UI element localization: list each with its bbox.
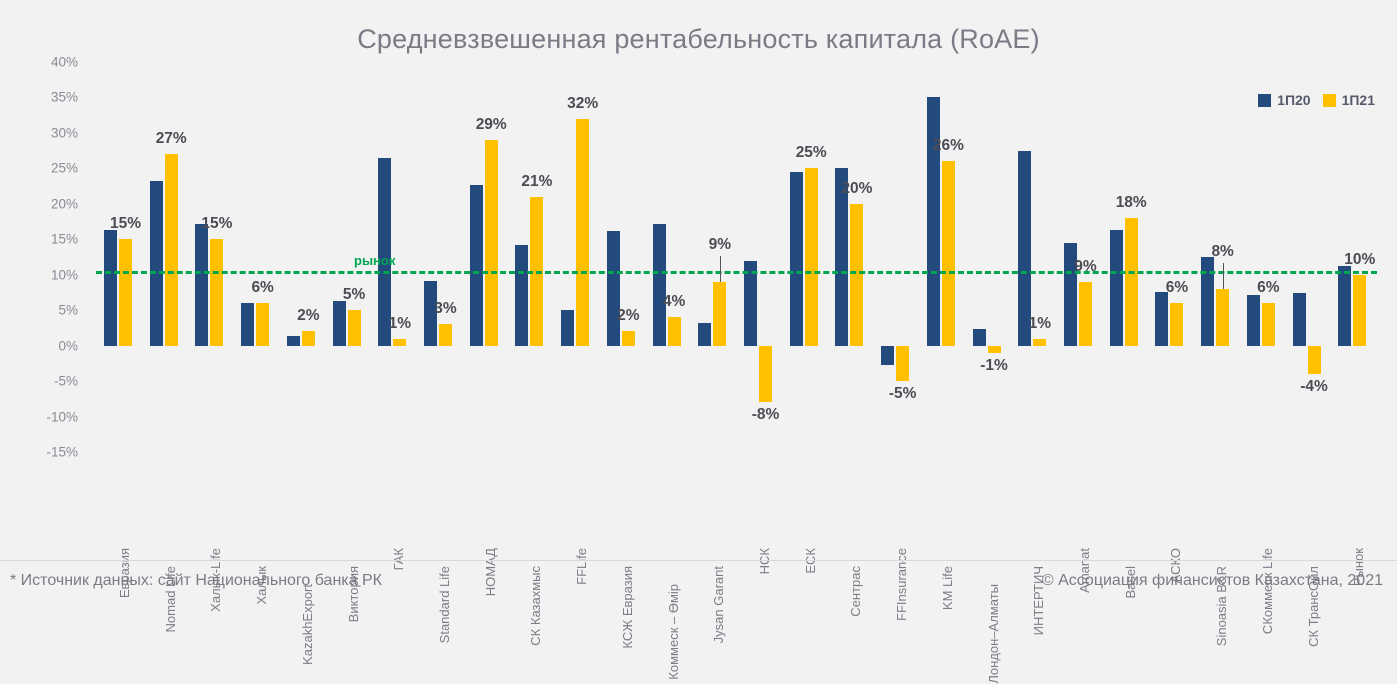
- y-axis-tick: -10%: [46, 409, 78, 424]
- bar-1П21[interactable]: [850, 204, 863, 346]
- bar-group: [286, 62, 332, 452]
- y-axis-tick: 20%: [51, 196, 78, 211]
- x-axis-label: Коммеск – Өмiр: [666, 584, 681, 680]
- bar-1П20[interactable]: [698, 323, 711, 346]
- bar-value-label: 15%: [201, 215, 232, 233]
- footer-copyright: © Ассоциация финансистов Казахстана, 202…: [1042, 572, 1383, 590]
- bar-value-label: 9%: [709, 236, 731, 254]
- bar-value-label: 5%: [343, 286, 365, 304]
- bar-group: [834, 62, 880, 452]
- bar-1П20[interactable]: [150, 181, 163, 346]
- y-axis-tick: -15%: [46, 445, 78, 460]
- footer-source: * Источник данных: сайт Национального ба…: [10, 572, 382, 590]
- market-average-label: рынок: [354, 253, 395, 268]
- bar-1П21[interactable]: [1353, 275, 1366, 346]
- bar-1П20[interactable]: [607, 231, 620, 346]
- bar-1П21[interactable]: [302, 331, 315, 345]
- bar-value-label: 20%: [841, 180, 872, 198]
- bar-1П21[interactable]: [119, 239, 132, 345]
- bar-value-label: 1%: [1029, 315, 1051, 333]
- x-axis-label: Standard Life: [437, 566, 452, 643]
- bar-group: [743, 62, 789, 452]
- y-axis-tick: 10%: [51, 267, 78, 282]
- bar-group: [240, 62, 286, 452]
- bar-1П20[interactable]: [287, 336, 300, 346]
- bar-1П20[interactable]: [515, 245, 528, 346]
- x-axis-labels: ЕвразияNomad LifeХалык-LifeХалыкKazakhEx…: [96, 456, 1376, 566]
- chart-root: Средневзвешенная рентабельность капитала…: [0, 0, 1397, 613]
- bar-1П20[interactable]: [790, 172, 803, 346]
- bar-group: [789, 62, 835, 452]
- bar-1П21[interactable]: [1079, 282, 1092, 346]
- y-axis: 40%35%30%25%20%15%10%5%0%-5%-10%-15%: [0, 62, 88, 452]
- bar-1П21[interactable]: [759, 346, 772, 403]
- bar-1П21[interactable]: [485, 140, 498, 346]
- bar-value-label: -5%: [889, 385, 917, 403]
- bar-value-label: 9%: [1074, 258, 1096, 276]
- label-leader-line: [720, 256, 721, 282]
- bar-value-label: -8%: [752, 406, 780, 424]
- bar-1П21[interactable]: [668, 317, 681, 345]
- bar-1П21[interactable]: [1125, 218, 1138, 346]
- x-axis-label: FFLife: [574, 548, 589, 585]
- bar-1П21[interactable]: [1170, 303, 1183, 346]
- y-axis-tick: 0%: [58, 338, 78, 353]
- y-axis-tick: 15%: [51, 232, 78, 247]
- bar-value-label: 27%: [156, 130, 187, 148]
- bar-value-label: 25%: [796, 144, 827, 162]
- bar-1П21[interactable]: [896, 346, 909, 381]
- x-axis-label: Сентрас: [848, 566, 863, 617]
- bar-1П21[interactable]: [713, 282, 726, 346]
- bar-value-label: 29%: [476, 116, 507, 134]
- bar-value-label: 32%: [567, 95, 598, 113]
- bar-group: [972, 62, 1018, 452]
- bar-1П21[interactable]: [805, 168, 818, 345]
- bar-1П20[interactable]: [927, 97, 940, 345]
- market-average-line: [96, 271, 1377, 274]
- x-axis-label: KazakhExport: [300, 584, 315, 665]
- x-axis-label: СК Казахмыс: [528, 566, 543, 646]
- bar-1П20[interactable]: [333, 301, 346, 346]
- x-axis-label: НОМАД: [483, 548, 498, 596]
- bar-group: [423, 62, 469, 452]
- bar-1П21[interactable]: [576, 119, 589, 346]
- bar-1П21[interactable]: [439, 324, 452, 345]
- bar-1П21[interactable]: [1262, 303, 1275, 346]
- bar-1П21[interactable]: [210, 239, 223, 345]
- bar-value-label: 21%: [521, 173, 552, 191]
- bar-value-label: 2%: [297, 307, 319, 325]
- bar-value-label: 2%: [617, 307, 639, 325]
- bar-group: [1154, 62, 1200, 452]
- bar-1П21[interactable]: [622, 331, 635, 345]
- bar-group: [926, 62, 972, 452]
- bar-1П21[interactable]: [165, 154, 178, 345]
- bar-1П21[interactable]: [393, 339, 406, 346]
- bar-1П21[interactable]: [348, 310, 361, 345]
- bar-1П20[interactable]: [195, 224, 208, 345]
- bars-layer: рынок15%27%15%6%2%5%1%3%29%21%32%2%4%9%-…: [96, 62, 1376, 452]
- y-axis-tick: 25%: [51, 161, 78, 176]
- bar-group: [606, 62, 652, 452]
- bar-1П21[interactable]: [1308, 346, 1321, 374]
- bar-value-label: 6%: [251, 279, 273, 297]
- x-axis-label: Jysan Garant: [711, 566, 726, 643]
- y-axis-tick: -5%: [54, 374, 78, 389]
- bar-1П21[interactable]: [256, 303, 269, 346]
- bar-group: [560, 62, 606, 452]
- x-axis-label: Лондон–Алматы: [986, 584, 1001, 684]
- bar-value-label: 26%: [933, 137, 964, 155]
- page-title: Средневзвешенная рентабельность капитала…: [0, 24, 1397, 55]
- bar-1П20[interactable]: [1293, 293, 1306, 345]
- x-axis-label: НСК: [757, 548, 772, 574]
- bar-1П20[interactable]: [1247, 295, 1260, 346]
- bar-1П21[interactable]: [1033, 339, 1046, 346]
- bar-value-label: 4%: [663, 293, 685, 311]
- bar-1П20[interactable]: [881, 346, 894, 366]
- bar-1П20[interactable]: [470, 185, 483, 345]
- bar-value-label: 6%: [1166, 279, 1188, 297]
- bar-value-label: 1%: [389, 315, 411, 333]
- bar-1П21[interactable]: [942, 161, 955, 345]
- y-axis-tick: 35%: [51, 90, 78, 105]
- bar-group: [1246, 62, 1292, 452]
- bar-group: [103, 62, 149, 452]
- x-axis-label: FFInsurance: [894, 548, 909, 621]
- bar-value-label: 3%: [434, 300, 456, 318]
- bar-group: [1109, 62, 1155, 452]
- bar-value-label: 10%: [1344, 251, 1375, 269]
- bar-1П20[interactable]: [561, 310, 574, 345]
- bar-group: [194, 62, 240, 452]
- x-axis-label: КСЖ Евразия: [620, 566, 635, 649]
- bar-value-label: -4%: [1300, 378, 1328, 396]
- bar-1П21[interactable]: [988, 346, 1001, 353]
- bar-value-label: 18%: [1116, 194, 1147, 212]
- bar-group: [652, 62, 698, 452]
- bar-value-label: 15%: [110, 215, 141, 233]
- bar-1П20[interactable]: [1155, 292, 1168, 346]
- bar-1П20[interactable]: [973, 329, 986, 346]
- y-axis-tick: 5%: [58, 303, 78, 318]
- bar-group: [1017, 62, 1063, 452]
- bar-value-label: 6%: [1257, 279, 1279, 297]
- bar-group: [149, 62, 195, 452]
- y-axis-tick: 40%: [51, 55, 78, 70]
- bar-1П20[interactable]: [241, 303, 254, 346]
- y-axis-tick: 30%: [51, 125, 78, 140]
- bar-value-label: -1%: [980, 357, 1008, 375]
- bar-1П20[interactable]: [104, 230, 117, 346]
- bar-group: [514, 62, 560, 452]
- bar-1П20[interactable]: [1338, 266, 1351, 345]
- bar-1П21[interactable]: [1216, 289, 1229, 346]
- bar-1П20[interactable]: [653, 224, 666, 345]
- label-leader-line: [1223, 263, 1224, 289]
- bar-1П20[interactable]: [1110, 230, 1123, 346]
- x-axis-label: KM Life: [940, 566, 955, 610]
- footer-divider: [0, 560, 1397, 561]
- bar-value-label: 8%: [1211, 243, 1233, 261]
- plot-area: рынок15%27%15%6%2%5%1%3%29%21%32%2%4%9%-…: [96, 62, 1376, 452]
